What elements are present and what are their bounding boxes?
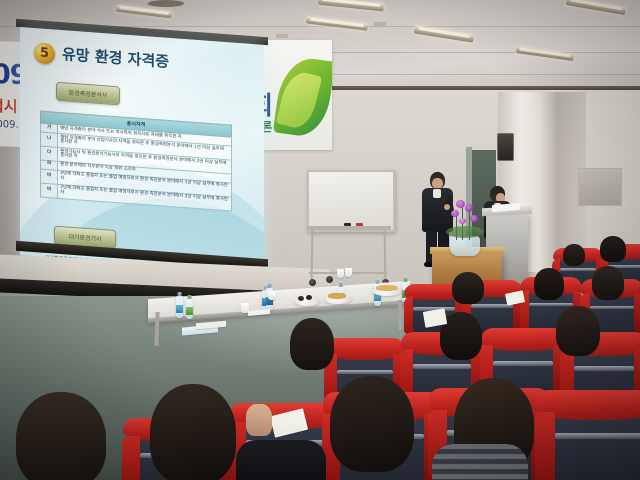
snack-icon (376, 285, 398, 291)
orchid-icon (456, 200, 465, 208)
hand (444, 204, 450, 210)
audience-head-foreground (330, 376, 414, 472)
row-key: 나 (41, 132, 58, 147)
row-key: 바 (41, 183, 58, 198)
audience-shoulder (236, 440, 326, 480)
ceiling-speaker-icon (148, 0, 184, 7)
water-bottle (186, 299, 193, 319)
shirt-collar (433, 189, 441, 198)
ceiling-light-icon (306, 16, 368, 31)
orchid-icon (465, 204, 473, 212)
audience-shoulder (432, 444, 528, 480)
marker-icon (344, 223, 351, 226)
audience-head (592, 266, 624, 300)
ceiling-light-icon (566, 0, 626, 15)
auditorium-seat (544, 398, 640, 480)
paper-cup (337, 269, 344, 278)
marker-icon (356, 223, 363, 226)
audience-head (556, 306, 600, 356)
audience-head (290, 318, 334, 370)
orchid-icon (459, 218, 466, 224)
audience-head-foreground (150, 384, 236, 480)
photo-scene: 09 업시 2009. 11. 수회 전략토론 환경정책과 5 유망 환경 자격… (0, 0, 640, 480)
whiteboard (307, 170, 395, 232)
row-key: 마 (41, 169, 58, 184)
wall-panel (578, 168, 622, 206)
audience-head (534, 268, 564, 300)
ceiling-vent-icon (374, 22, 386, 26)
caster-icon (326, 276, 333, 283)
wall-speaker-icon (497, 133, 514, 161)
row-key: 다 (41, 146, 58, 161)
projection-screen: 5 유망 환경 자격증 환경측정분석사 응시자격 가해당 자격증의 분야 석사 … (20, 27, 264, 273)
audience-head-foreground (16, 392, 106, 480)
ceiling-light-icon (414, 25, 475, 42)
water-bottle (176, 296, 183, 318)
snack-icon (298, 296, 304, 301)
ceiling-light-icon (516, 46, 574, 61)
audience-head (600, 236, 626, 262)
banner-left-line2: 업시 (0, 95, 18, 117)
whiteboard-tray (307, 226, 391, 230)
paper-cup (345, 268, 352, 277)
glass-vase (450, 236, 480, 256)
table-leg (398, 300, 403, 330)
caster-icon (309, 279, 316, 286)
foliage-icon (446, 226, 484, 238)
orchid-icon (451, 210, 459, 217)
snack-icon (328, 293, 346, 299)
audience-head (563, 244, 585, 266)
paper-cup (268, 291, 276, 300)
ceiling-vent-icon (276, 34, 288, 38)
audience-head (452, 272, 484, 304)
orchid-icon (470, 215, 478, 222)
ceiling-light-icon (318, 0, 384, 11)
slide-badge-number: 5 (34, 42, 55, 65)
slide-table: 응시자격 가해당 자격증의 분야 석사 또는 박사학위 취득자로 과제를 취득한… (40, 111, 232, 212)
snack-icon (306, 295, 312, 300)
raised-hand (246, 404, 272, 436)
